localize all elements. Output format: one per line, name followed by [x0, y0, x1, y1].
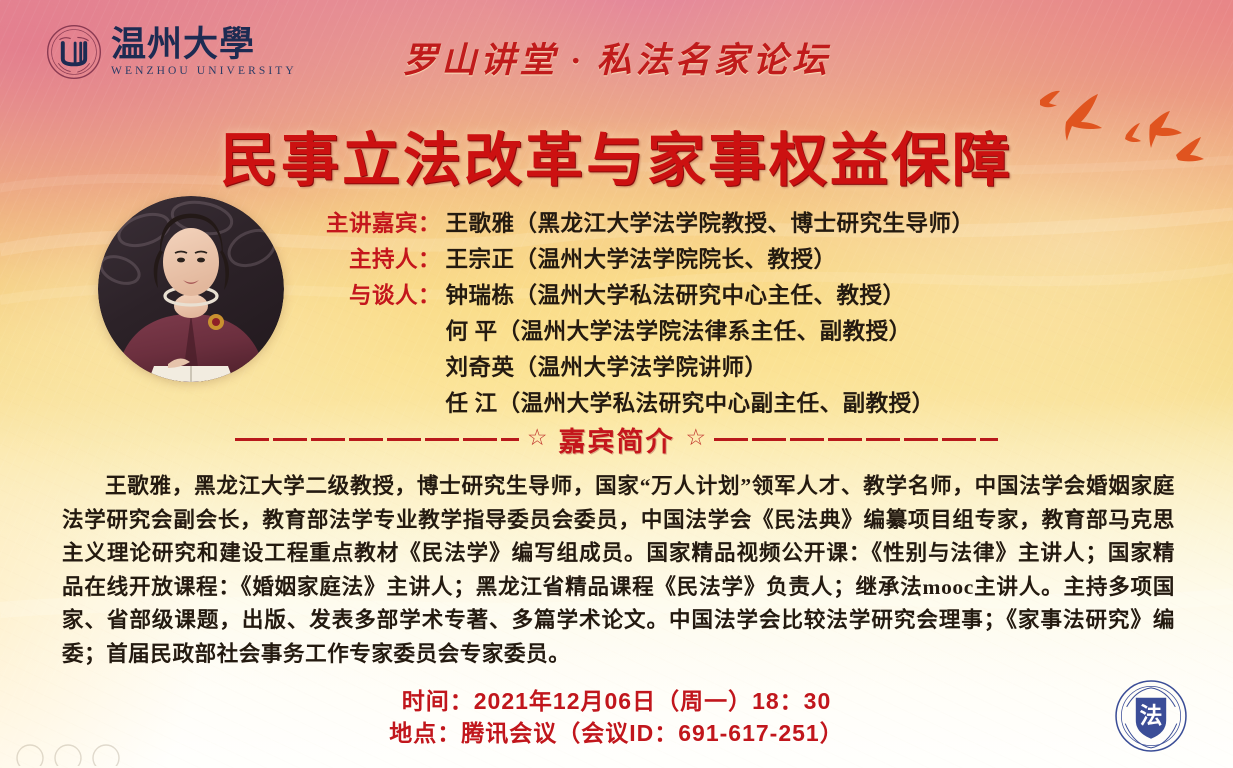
speaker-name: 钟瑞栋 [446, 283, 515, 308]
speaker-name: 刘奇英 [446, 355, 515, 380]
speaker-affiliation: （温州大学法学院法律系主任、副教授） [498, 319, 912, 344]
portrait-illustration [98, 196, 284, 382]
event-time: 时间：2021年12月06日（周一）18：30 [0, 685, 1233, 717]
speaker-name: 任 江 [446, 391, 498, 416]
star-icon-right: ☆ [686, 426, 707, 449]
speaker-role-label: 主讲嘉宾 [300, 206, 418, 238]
svg-text:法: 法 [1140, 704, 1163, 729]
speaker-name-affiliation: 王宗正（温州大学法学院院长、教授） [446, 242, 1000, 274]
speaker-row: 与谈人 ： 刘奇英（温州大学法学院讲师） [300, 350, 1000, 386]
speaker-affiliation: （温州大学法学院讲师） [515, 355, 768, 380]
speaker-row: 与谈人 ： 钟瑞栋（温州大学私法研究中心主任、教授） [300, 278, 1000, 314]
page-title: 民事立法改革与家事权益保障 [0, 113, 1233, 197]
speaker-row: 与谈人 ： 任 江（温州大学私法研究中心副主任、副教授） [300, 386, 1000, 422]
event-details: 时间：2021年12月06日（周一）18：30 地点：腾讯会议（会议ID：691… [0, 685, 1233, 749]
star-icon-left: ☆ [527, 426, 548, 449]
speaker-biography: 王歌雅，黑龙江大学二级教授，博士研究生导师，国家“万人计划”领军人才、教学名师，… [62, 470, 1175, 671]
speaker-colon: ： [418, 242, 446, 274]
speaker-list: 主讲嘉宾 ： 王歌雅（黑龙江大学法学院教授、博士研究生导师） 主持人 ： 王宗正… [300, 206, 1000, 422]
speaker-name-affiliation: 刘奇英（温州大学法学院讲师） [446, 350, 1000, 382]
speaker-affiliation: （黑龙江大学法学院教授、博士研究生导师） [515, 211, 975, 236]
speaker-name: 王歌雅 [446, 211, 515, 236]
section-heading: 嘉宾简介 [556, 420, 678, 459]
speaker-role-label: 主持人 [300, 242, 418, 274]
speaker-row: 主讲嘉宾 ： 王歌雅（黑龙江大学法学院教授、博士研究生导师） [300, 206, 1000, 242]
speaker-name-affiliation: 钟瑞栋（温州大学私法研究中心主任、教授） [446, 278, 1000, 310]
speaker-name-affiliation: 何 平（温州大学法学院法律系主任、副教授） [446, 314, 1000, 346]
speaker-row: 与谈人 ： 何 平（温州大学法学院法律系主任、副教授） [300, 314, 1000, 350]
speaker-name-affiliation: 王歌雅（黑龙江大学法学院教授、博士研究生导师） [446, 206, 1000, 238]
speaker-portrait [98, 196, 284, 382]
event-poster: 温州大學 WENZHOU UNIVERSITY 罗山讲堂 · 私法名家论坛 民事… [0, 0, 1233, 768]
divider-line-right [714, 438, 998, 441]
speaker-role-label: 与谈人 [300, 278, 418, 310]
speaker-colon: ： [418, 278, 446, 310]
divider-line-left [235, 438, 519, 441]
speaker-name: 何 平 [446, 319, 498, 344]
speaker-affiliation: （温州大学法学院院长、教授） [515, 247, 837, 272]
event-location: 地点：腾讯会议（会议ID：691-617-251） [0, 717, 1233, 749]
corner-watermark-icon [10, 732, 150, 766]
speaker-colon: ： [418, 206, 446, 238]
speaker-affiliation: （温州大学私法研究中心主任、教授） [515, 283, 906, 308]
speaker-row: 主持人 ： 王宗正（温州大学法学院院长、教授） [300, 242, 1000, 278]
speaker-name-affiliation: 任 江（温州大学私法研究中心副主任、副教授） [446, 386, 1000, 418]
speaker-affiliation: （温州大学私法研究中心副主任、副教授） [498, 391, 935, 416]
series-subtitle: 罗山讲堂 · 私法名家论坛 [0, 32, 1233, 83]
speaker-name: 王宗正 [446, 247, 515, 272]
section-divider: ☆ 嘉宾简介 ☆ [235, 420, 998, 459]
law-school-emblem-icon: 法 [1113, 678, 1189, 754]
